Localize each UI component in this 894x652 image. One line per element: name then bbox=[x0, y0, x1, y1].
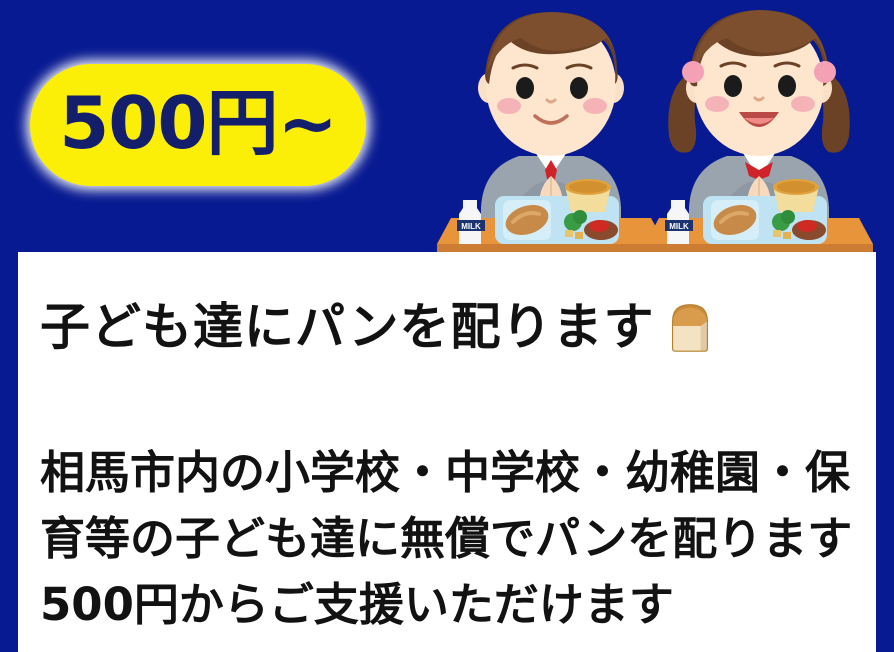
boy-illustration: MILK bbox=[437, 0, 665, 262]
body-copy: 相馬市内の小学校・中学校・幼稚園・保 育等の子ども達に無償でパンを配ります 50… bbox=[40, 440, 860, 638]
body-line: 500円からご支援いただけます bbox=[40, 572, 860, 638]
price-badge-label: 500円~ bbox=[59, 87, 337, 159]
svg-text:MILK: MILK bbox=[669, 222, 689, 231]
donation-poster: 500円~ bbox=[0, 0, 894, 652]
price-badge: 500円~ bbox=[26, 60, 370, 190]
girl-illustration: MILK bbox=[645, 0, 873, 262]
headline-text: 子ども達にパンを配ります bbox=[40, 302, 655, 352]
body-line: 育等の子ども達に無償でパンを配ります bbox=[40, 506, 860, 572]
bread-loaf-emoji bbox=[659, 296, 721, 358]
headline: 子ども達にパンを配ります bbox=[40, 296, 721, 358]
svg-text:MILK: MILK bbox=[461, 222, 481, 231]
price-badge-pill: 500円~ bbox=[30, 64, 366, 186]
content-card: 子ども達にパンを配ります 相馬市内の小学校・中学校・幼稚園・保 育等の子ども達に… bbox=[18, 252, 876, 652]
children-lunch-illustration: MILK bbox=[437, 0, 894, 262]
body-line: 相馬市内の小学校・中学校・幼稚園・保 bbox=[40, 440, 860, 506]
